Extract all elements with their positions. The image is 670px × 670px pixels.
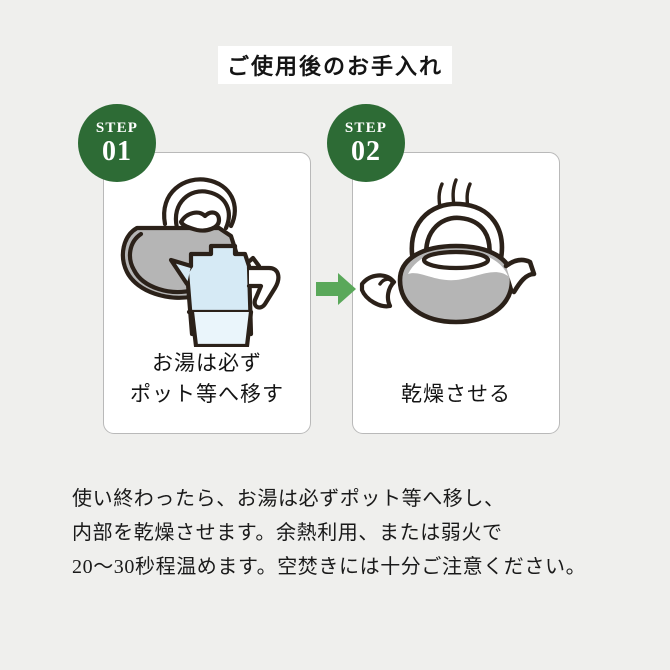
body-line: 20〜30秒程温めます。空焚きには十分ご注意ください。 [72,550,612,584]
body-line: 使い終わったら、お湯は必ずポット等へ移し、 [72,482,612,516]
kettle-pouring-illustration [104,159,310,349]
step-badge-01: STEP 01 [78,104,156,182]
page-title-band: ご使用後のお手入れ [218,46,452,84]
body-line: 内部を乾燥させます。余熱利用、または弱火で [72,516,612,550]
step-card-02: 乾燥させる [352,152,560,434]
caption-line: 乾燥させる [353,379,559,409]
caption-line: お湯は必ず [104,348,310,378]
page-title: ご使用後のお手入れ [227,49,443,81]
step-badge-01-word: STEP [96,121,138,136]
step-card-01-caption: お湯は必ず ポット等へ移す [104,348,310,409]
step-badge-02-word: STEP [345,121,387,136]
body-paragraph: 使い終わったら、お湯は必ずポット等へ移し、 内部を乾燥させます。余熱利用、または… [72,482,612,584]
caption-line: ポット等へ移す [104,379,310,409]
right-arrow-icon [316,272,356,306]
step-card-02-caption: 乾燥させる [353,379,559,409]
step-card-01: お湯は必ず ポット等へ移す [103,152,311,434]
steaming-teapot-illustration [353,159,559,349]
step-badge-02-number: 02 [351,138,381,166]
step-badge-01-number: 01 [102,138,132,166]
step-badge-02: STEP 02 [327,104,405,182]
